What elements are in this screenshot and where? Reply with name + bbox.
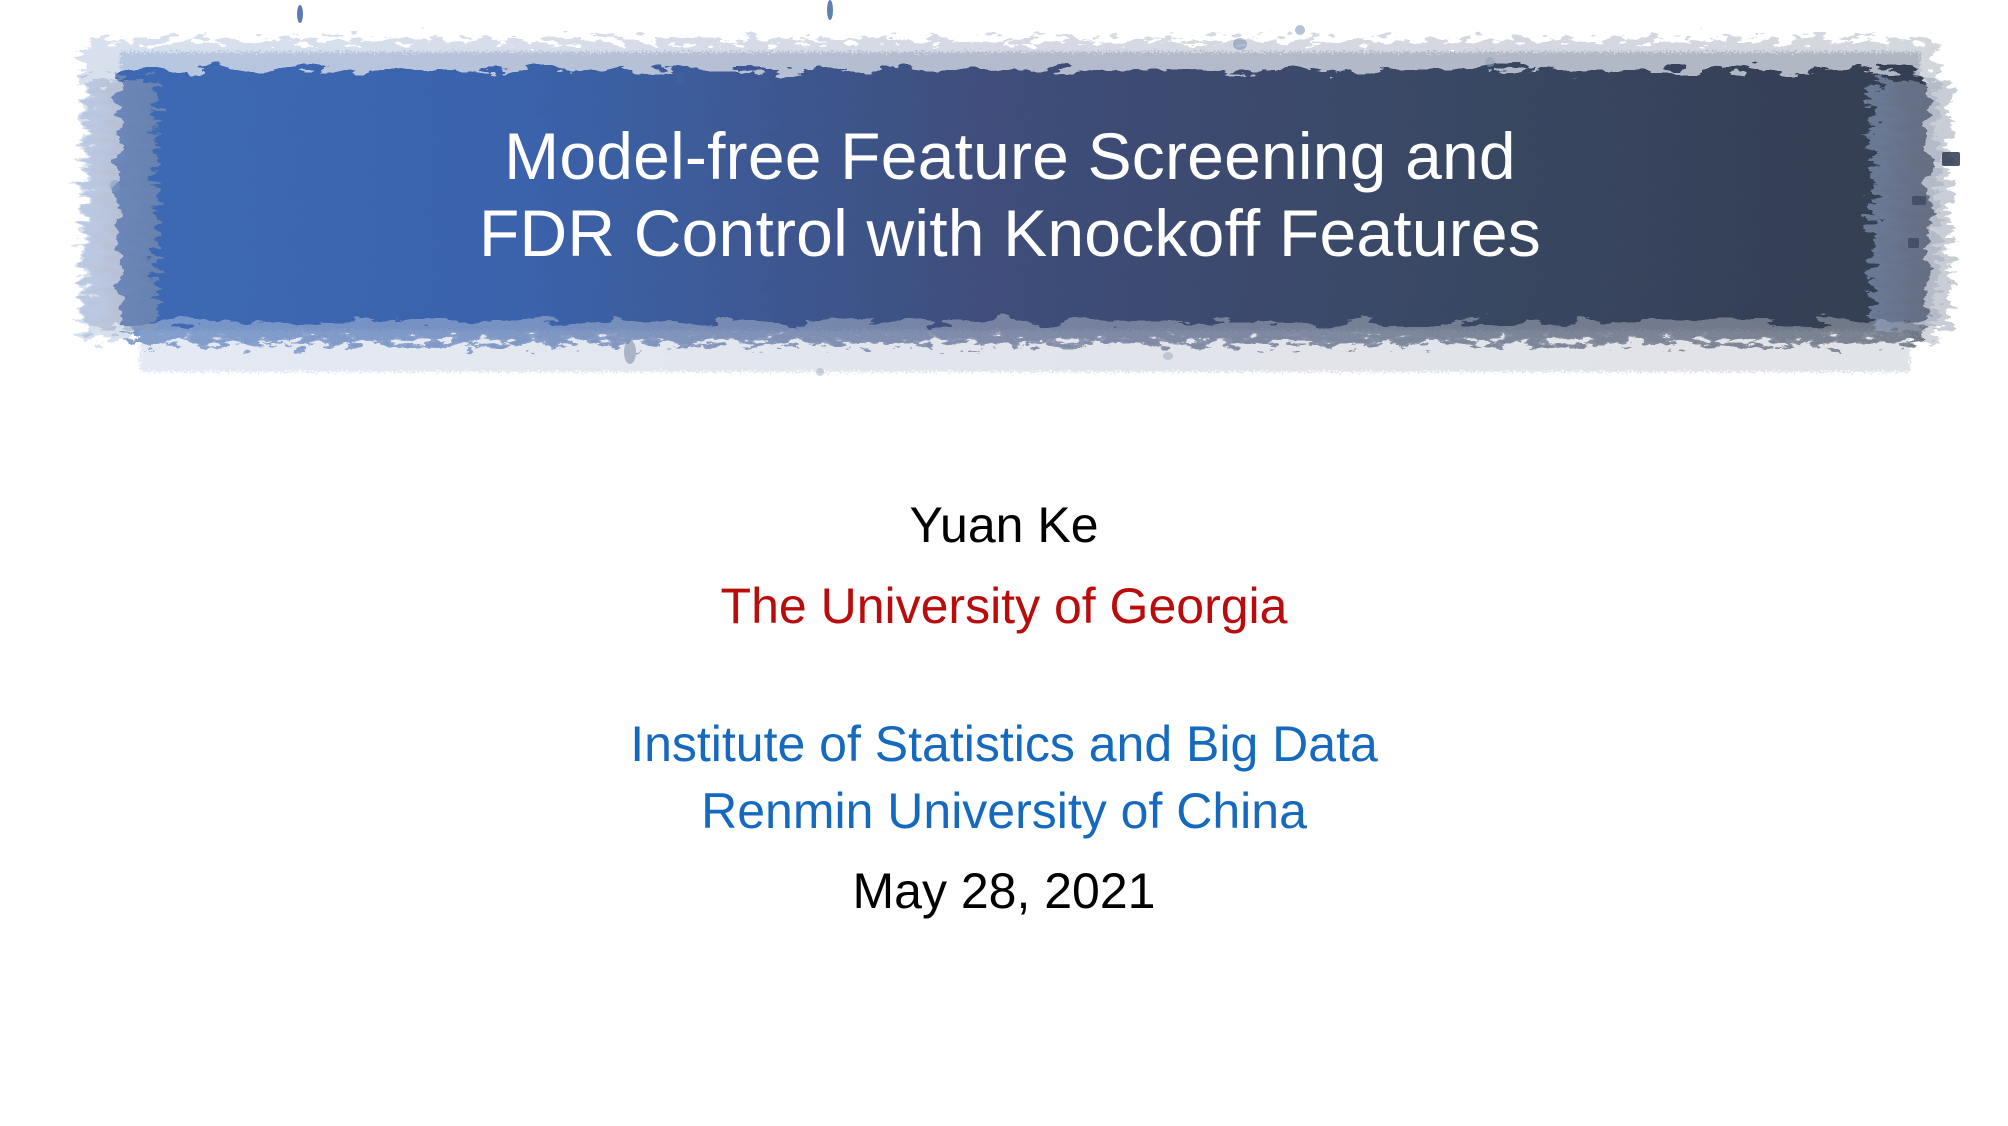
- brush-right-fray: [1872, 80, 1950, 330]
- brush-body: [118, 70, 1928, 322]
- title-slide: Model-free Feature Screening and FDR Con…: [0, 0, 2008, 1126]
- brush-stroke-shape: [60, 0, 1960, 400]
- author-name: Yuan Ke: [0, 492, 2008, 559]
- secondary-affiliation-line-2: Renmin University of China: [0, 778, 2008, 845]
- brush-left-fray: [86, 80, 156, 330]
- primary-affiliation: The University of Georgia: [0, 573, 2008, 640]
- body-spacer: [0, 639, 2008, 711]
- secondary-affiliation-line-1: Institute of Statistics and Big Data: [0, 711, 2008, 778]
- brush-bottom-wash: [140, 330, 1910, 372]
- title-banner: Model-free Feature Screening and FDR Con…: [60, 0, 1960, 400]
- presentation-date: May 28, 2021: [0, 858, 2008, 925]
- slide-body: Yuan Ke The University of Georgia Instit…: [0, 492, 2008, 925]
